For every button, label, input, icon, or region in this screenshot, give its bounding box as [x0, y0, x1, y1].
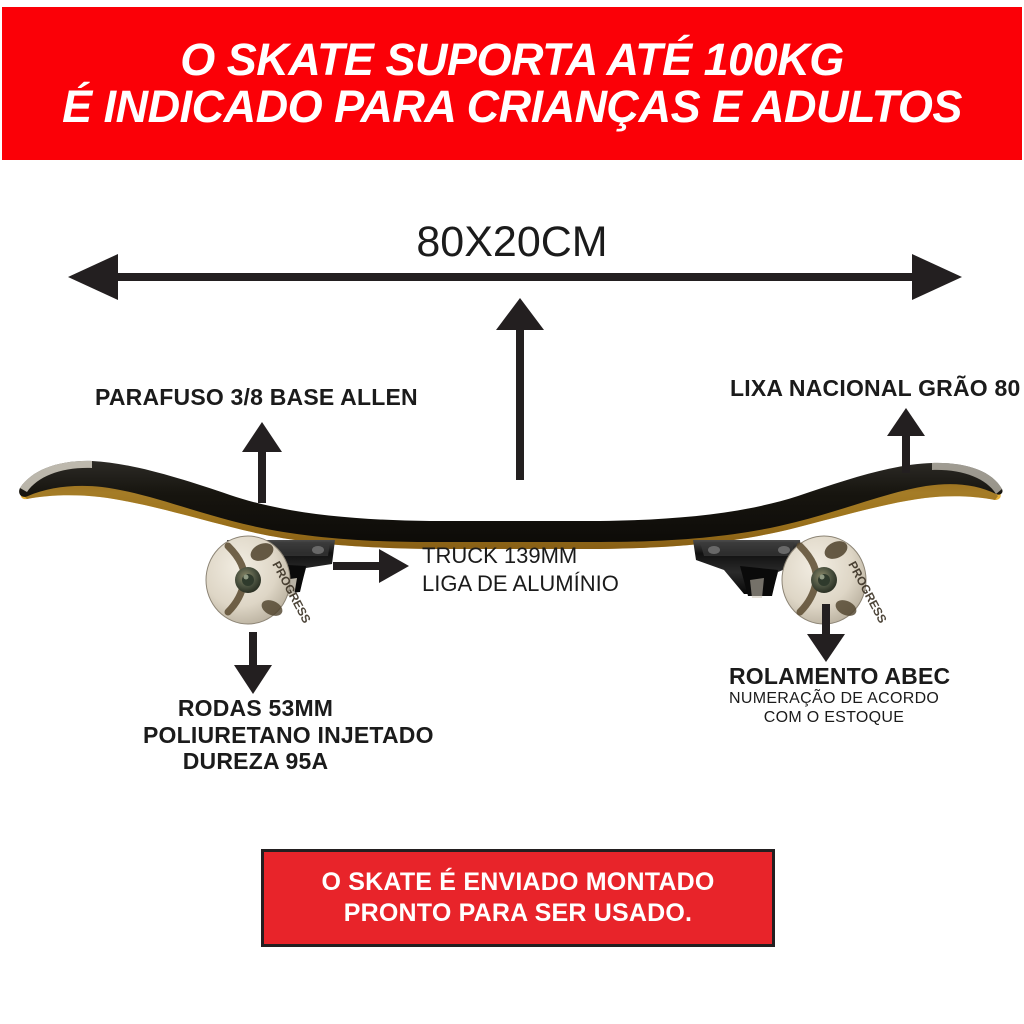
- callout-parafuso: PARAFUSO 3/8 BASE ALLEN: [95, 384, 418, 411]
- callout-truck-line-2: LIGA DE ALUMÍNIO: [422, 570, 619, 598]
- callout-rodas-line-3: DUREZA 95A: [143, 748, 368, 775]
- banner-line-1: O SKATE SUPORTA ATÉ 100KG: [180, 37, 843, 84]
- callout-rodas-line-2: POLIURETANO INJETADO: [143, 722, 368, 749]
- shipping-notice-box: O SKATE É ENVIADO MONTADO PRONTO PARA SE…: [261, 849, 775, 947]
- callout-rodas: RODAS 53MM POLIURETANO INJETADO DUREZA 9…: [143, 695, 368, 775]
- callout-truck: TRUCK 139MM LIGA DE ALUMÍNIO: [422, 542, 619, 597]
- callout-rolamento-line-3: COM O ESTOQUE: [729, 709, 939, 728]
- shipping-notice-line-2: PRONTO PARA SER USADO.: [344, 898, 692, 929]
- callout-rolamento: ROLAMENTO ABEC NUMERAÇÃO DE ACORDO COM O…: [729, 663, 939, 727]
- callout-rolamento-line-1: ROLAMENTO ABEC: [729, 663, 939, 690]
- callout-rodas-line-1: RODAS 53MM: [143, 695, 368, 722]
- callout-lixa: LIXA NACIONAL GRÃO 80: [730, 375, 1020, 402]
- wheel-rear: PROGRESS: [782, 536, 890, 625]
- callout-lixa-line-1: LIXA NACIONAL GRÃO 80: [730, 375, 1020, 402]
- callout-truck-line-1: TRUCK 139MM: [422, 542, 619, 570]
- banner-line-2: É INDICADO PARA CRIANÇAS E ADULTOS: [62, 84, 962, 131]
- product-infographic: O SKATE SUPORTA ATÉ 100KG É INDICADO PAR…: [0, 0, 1024, 1024]
- top-banner: O SKATE SUPORTA ATÉ 100KG É INDICADO PAR…: [2, 7, 1022, 160]
- dimension-label: 80X20CM: [0, 218, 1024, 267]
- callout-rolamento-line-2: NUMERAÇÃO DE ACORDO: [729, 690, 939, 709]
- callout-parafuso-line-1: PARAFUSO 3/8 BASE ALLEN: [95, 384, 418, 411]
- shipping-notice-line-1: O SKATE É ENVIADO MONTADO: [322, 867, 715, 898]
- deck-griptape: [19, 461, 1002, 542]
